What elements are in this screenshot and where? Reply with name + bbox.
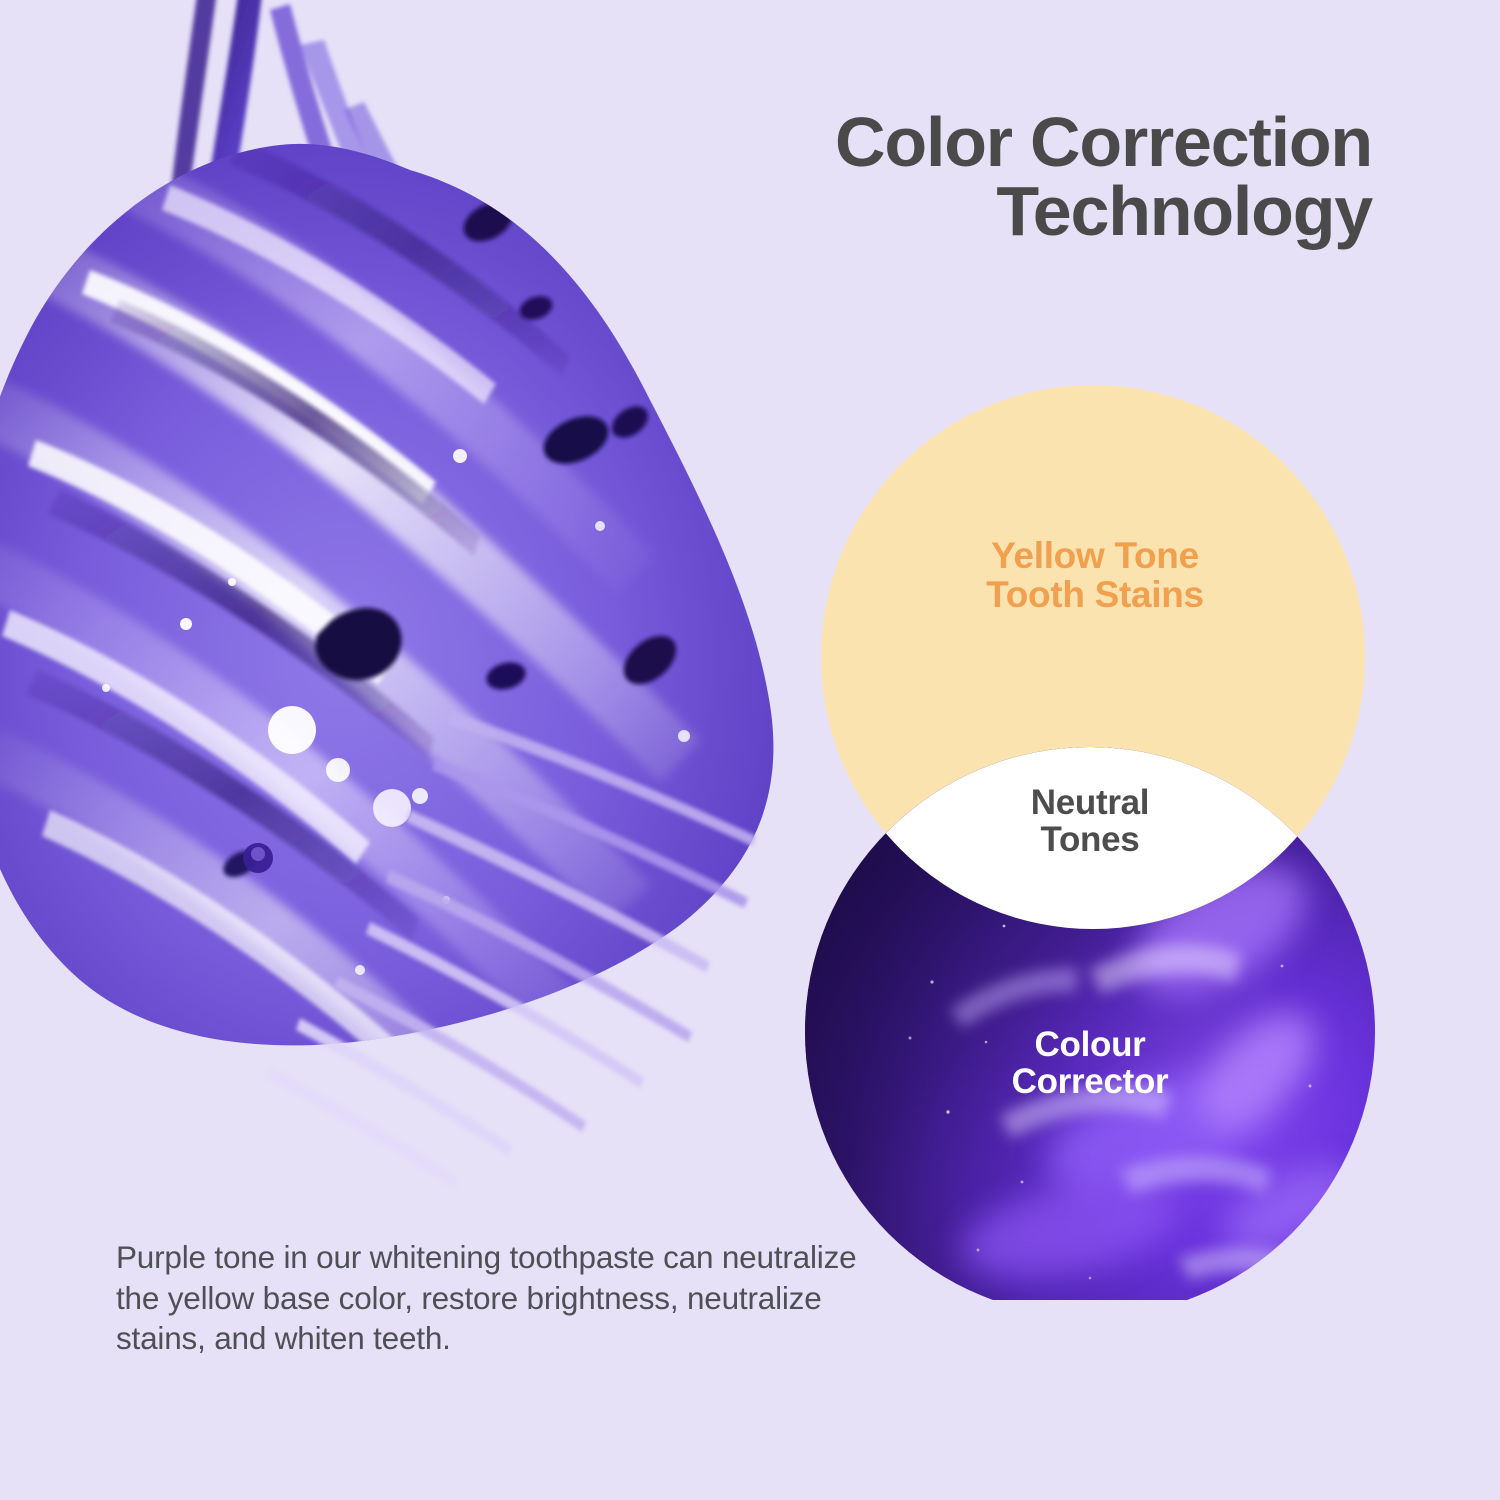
paste-bubbles — [102, 195, 690, 975]
title-line-1: Color Correction — [700, 108, 1372, 177]
infographic-canvas: Color Correction Technology — [0, 0, 1500, 1500]
venn-diagram — [790, 370, 1400, 1300]
paste-brush-streaks — [266, 712, 756, 1188]
paste-drips — [160, 0, 554, 530]
description-paragraph: Purple tone in our whitening toothpaste … — [116, 1237, 876, 1359]
paste-dark-pools — [219, 195, 685, 883]
title-line-2: Technology — [700, 177, 1372, 246]
page-title: Color Correction Technology — [700, 108, 1372, 245]
